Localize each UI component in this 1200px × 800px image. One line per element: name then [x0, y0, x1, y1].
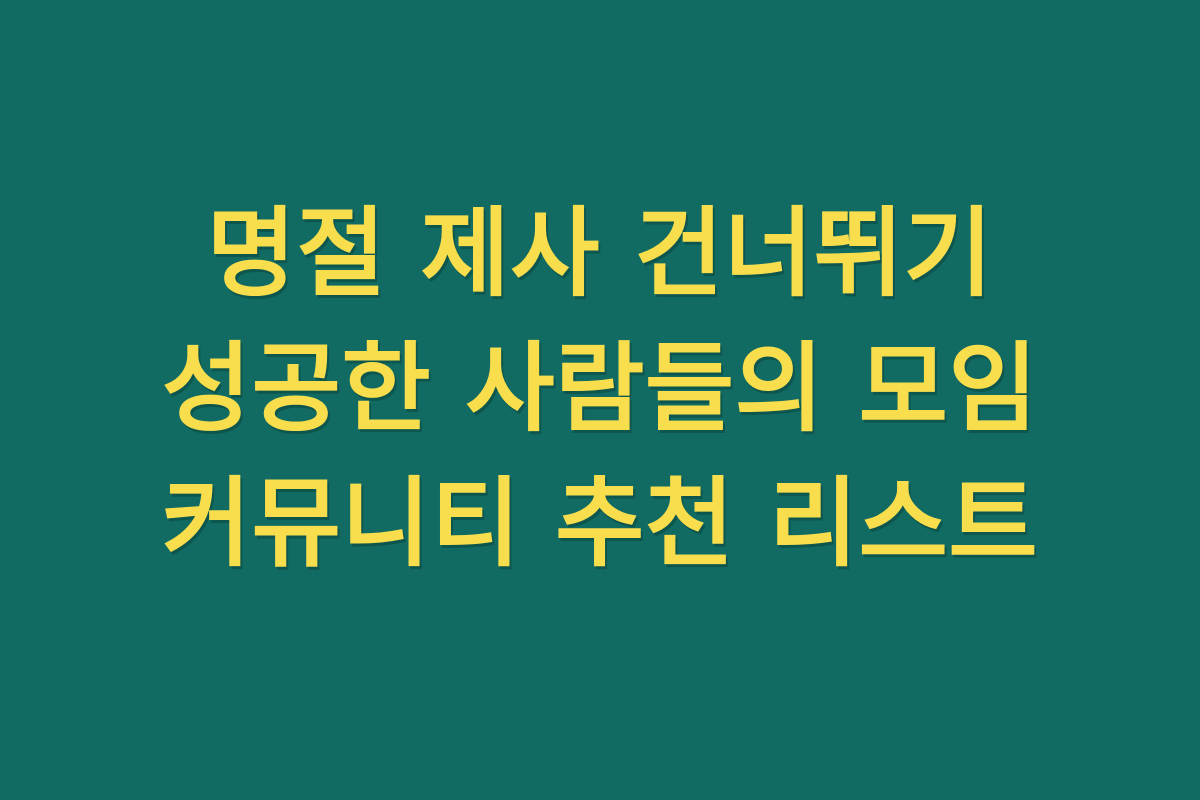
title-banner: 명절 제사 건너뛰기 성공한 사람들의 모임 커뮤니티 추천 리스트 [0, 0, 1200, 800]
headline-text: 명절 제사 건너뛰기 성공한 사람들의 모임 커뮤니티 추천 리스트 [70, 186, 1130, 591]
